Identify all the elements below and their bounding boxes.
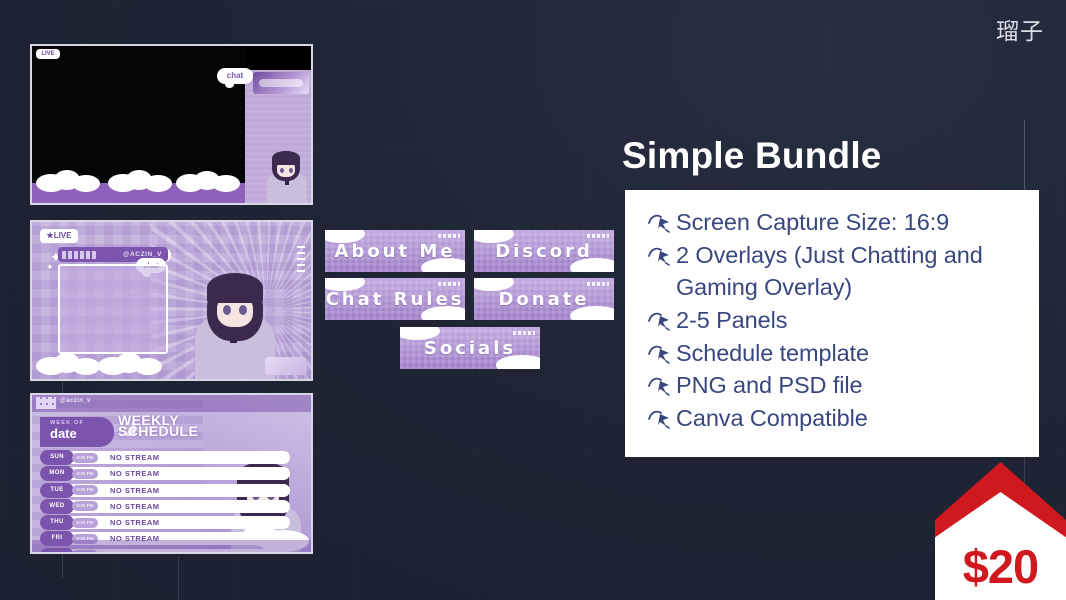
- accent-line: [178, 556, 179, 600]
- week-of-value: date: [50, 426, 114, 441]
- chat-bubble-icon: chat: [217, 68, 253, 84]
- live-badge: LIVE: [36, 49, 60, 59]
- schedule-status: NO STREAM: [110, 484, 160, 497]
- schedule-title-line2: SCHEDULE: [118, 426, 198, 437]
- schedule-row: THU0:00 PMNO STREAM: [40, 516, 290, 529]
- shooting-star-bullet-icon: [647, 342, 673, 368]
- feature-list-box: Screen Capture Size: 16:92 Overlays (Jus…: [625, 190, 1039, 457]
- shooting-star-bullet-icon: [647, 309, 673, 335]
- schedule-day-pill: MON: [40, 466, 74, 481]
- feature-item: 2-5 Panels: [647, 304, 1025, 337]
- feature-item-label: Screen Capture Size: 16:9: [676, 206, 949, 239]
- schedule-status: NO STREAM: [110, 467, 160, 480]
- shooting-star-bullet-icon: [647, 374, 673, 400]
- panel-button-label: Discord: [495, 241, 593, 262]
- price-value: $20: [935, 539, 1066, 594]
- schedule-footer-bar: [32, 540, 311, 552]
- schedule-time-pill: 0:00 PM: [72, 453, 98, 463]
- dot-decoration: [438, 282, 460, 286]
- panel-button-about-me[interactable]: About Me: [325, 230, 465, 272]
- schedule-time-pill: 0:00 PM: [72, 485, 98, 495]
- brand-logo-icon: [265, 357, 307, 375]
- feature-item-label: PNG and PSD file: [676, 369, 862, 402]
- schedule-time-pill: 0:00 PM: [72, 518, 98, 528]
- shooting-star-bullet-icon: [647, 244, 673, 270]
- schedule-status: NO STREAM: [110, 451, 160, 464]
- schedule-row: MON0:00 PMNO STREAM: [40, 467, 290, 480]
- sparkle-icon: ✦: [46, 262, 54, 273]
- schedule-rows: SUN0:00 PMNO STREAMMON0:00 PMNO STREAMTU…: [40, 451, 290, 554]
- handle-text: @aczin_v: [60, 398, 91, 404]
- schedule-day-pill: THU: [40, 515, 74, 530]
- schedule-row: WED0:00 PMNO STREAM: [40, 500, 290, 513]
- panel-button-label: About Me: [335, 241, 456, 262]
- feature-item: Screen Capture Size: 16:9: [647, 206, 1025, 239]
- chat-message-area: [58, 264, 168, 354]
- feature-item: Schedule template: [647, 337, 1025, 370]
- price-badge: $20: [935, 462, 1066, 600]
- dot-decoration: [297, 242, 305, 272]
- panel-button-discord[interactable]: Discord: [474, 230, 614, 272]
- brand-logo-icon: [253, 72, 309, 94]
- schedule-day-pill: WED: [40, 499, 74, 514]
- social-icons: [36, 397, 56, 409]
- panel-button-label: Chat Rules: [326, 289, 465, 310]
- shooting-star-bullet-icon: [647, 211, 673, 237]
- panel-button-label: Socials: [424, 338, 516, 359]
- schedule-status: NO STREAM: [110, 500, 160, 513]
- feature-item-label: Schedule template: [676, 337, 869, 370]
- handle-text: @ACZIN_V: [123, 251, 162, 258]
- schedule-template-preview: @aczin_v WEEK OF date WEEKLY SCHEDULE SU…: [30, 393, 313, 554]
- screen-capture-area: [32, 46, 245, 185]
- feature-item: Canva Compatible: [647, 402, 1025, 435]
- panel-button-label: Donate: [498, 289, 589, 310]
- schedule-top-bar: @aczin_v: [32, 395, 311, 412]
- panel-button-socials[interactable]: Socials: [400, 327, 540, 369]
- dot-decoration: [513, 331, 535, 335]
- feature-item-label: 2-5 Panels: [676, 304, 787, 337]
- shooting-star-bullet-icon: [647, 407, 673, 433]
- accent-line: [1024, 120, 1025, 192]
- feature-item-label: Canva Compatible: [676, 402, 868, 435]
- week-of-label-block: WEEK OF date: [40, 417, 114, 447]
- feature-item: 2 Overlays (Just Chatting and Gaming Ove…: [647, 239, 1025, 304]
- schedule-time-pill: 0:00 PM: [72, 501, 98, 511]
- page-title: Simple Bundle: [622, 135, 882, 177]
- schedule-title: WEEKLY SCHEDULE: [118, 415, 198, 437]
- schedule-day-pill: SUN: [40, 450, 74, 465]
- panel-button-chat-rules[interactable]: Chat Rules: [325, 278, 465, 320]
- schedule-row: TUE0:00 PMNO STREAM: [40, 484, 290, 497]
- brand-mark-japanese: 瑠子: [996, 18, 1044, 47]
- schedule-day-pill: TUE: [40, 483, 74, 498]
- dot-decoration: [587, 234, 609, 238]
- dot-decoration: [438, 234, 460, 238]
- panel-button-donate[interactable]: Donate: [474, 278, 614, 320]
- dot-decoration: [587, 282, 609, 286]
- social-icons: [62, 251, 96, 259]
- feature-item: PNG and PSD file: [647, 369, 1025, 402]
- schedule-time-pill: 0:00 PM: [72, 469, 98, 479]
- gaming-overlay-preview: LIVE chat: [30, 44, 313, 205]
- schedule-status: NO STREAM: [110, 516, 160, 529]
- schedule-row: SUN0:00 PMNO STREAM: [40, 451, 290, 464]
- cloud-decoration: [32, 183, 245, 203]
- avatar: [265, 131, 309, 203]
- just-chatting-overlay-preview: ★LIVE ✦ ✦ @ACZIN_V chat: [30, 220, 313, 381]
- live-badge: ★LIVE: [40, 229, 78, 243]
- feature-item-label: 2 Overlays (Just Chatting and Gaming Ove…: [676, 239, 1025, 304]
